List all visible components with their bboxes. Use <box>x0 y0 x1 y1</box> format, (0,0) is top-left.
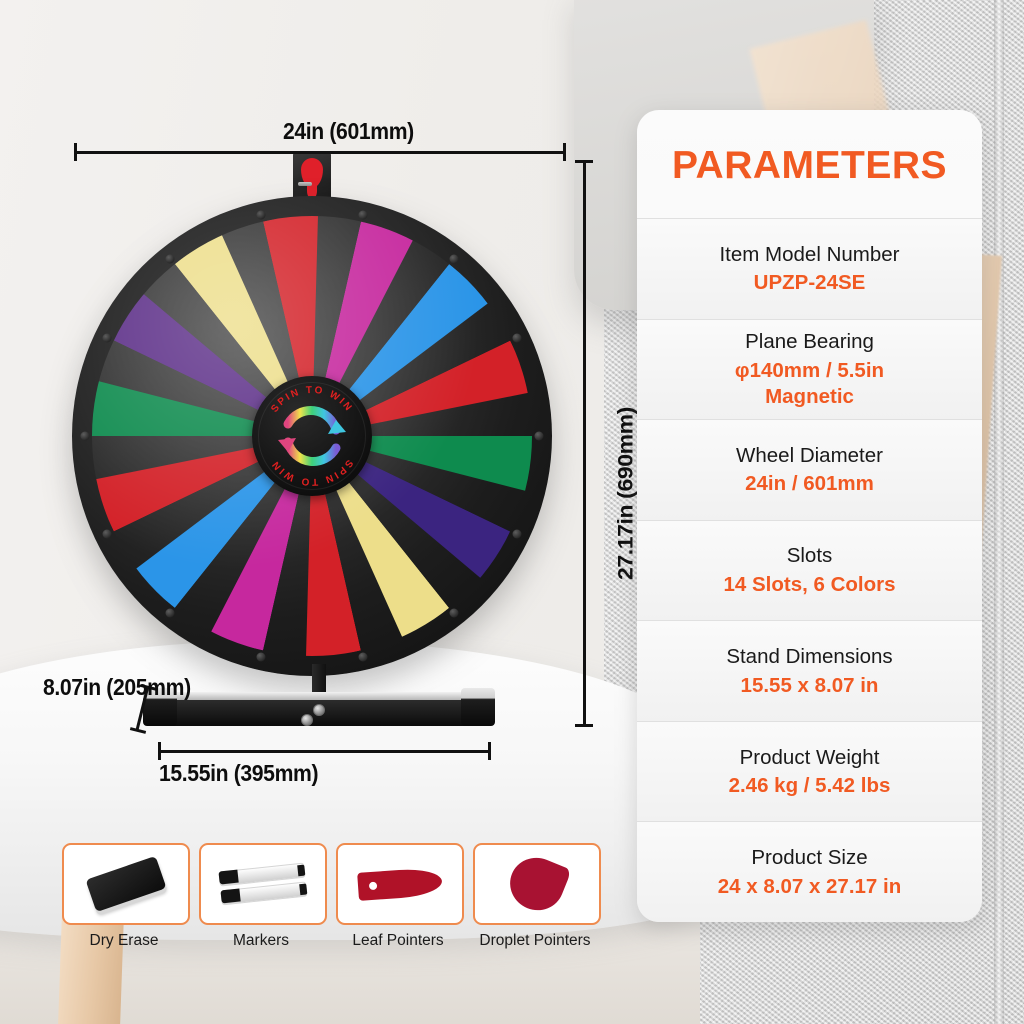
marker-icon <box>218 859 308 910</box>
accessory-card <box>473 843 601 925</box>
accessory-card <box>199 843 327 925</box>
stand-post <box>312 664 326 694</box>
parameter-row: Item Model NumberUPZP-24SE <box>637 218 982 319</box>
parameter-value: 24 x 8.07 x 27.17 in <box>718 874 902 900</box>
parameter-key: Item Model Number <box>719 242 899 268</box>
parameter-value: φ140mm / 5.5in Magnetic <box>735 358 884 409</box>
parameters-panel: PARAMETERS Item Model NumberUPZP-24SEPla… <box>637 110 982 922</box>
accessory-leaf-pointers[interactable]: Leaf Pointers <box>336 843 460 950</box>
recycle-arrows-icon <box>278 410 346 461</box>
stand-cap-right <box>461 688 495 726</box>
sofa-seam <box>994 0 1004 1024</box>
wheel-bolt <box>512 530 521 539</box>
parameter-value: 24in / 601mm <box>745 471 874 497</box>
wheel-bolt <box>257 653 266 662</box>
wheel-hub: SPIN TO WIN SPIN TO WIN <box>252 376 372 496</box>
wheel-bolt <box>358 210 367 219</box>
droplet-pointer-icon <box>502 850 572 918</box>
accessory-label: Leaf Pointers <box>336 932 460 950</box>
accessory-card <box>336 843 464 925</box>
parameter-row: Product Size24 x 8.07 x 27.17 in <box>637 821 982 922</box>
wheel-bolt <box>103 530 112 539</box>
hub-logo: SPIN TO WIN SPIN TO WIN <box>252 376 372 496</box>
wheel-bolt <box>535 432 544 441</box>
dimension-height-right-label: 27.17in (690mm) <box>613 407 638 580</box>
wheel-bolt <box>512 333 521 342</box>
wheel-bolt <box>81 432 90 441</box>
leaf-pointer-icon <box>357 867 443 901</box>
accessory-label: Droplet Pointers <box>473 932 597 950</box>
parameter-value: UPZP-24SE <box>754 270 866 296</box>
wheel-stand <box>143 686 495 732</box>
wheel-bolt <box>166 254 175 263</box>
dimension-stand-width-bottom-label: 15.55in (395mm) <box>159 760 318 787</box>
hub-shaft <box>298 182 312 186</box>
parameter-row: Stand Dimensions15.55 x 8.07 in <box>637 620 982 721</box>
parameter-row: Plane Bearingφ140mm / 5.5in Magnetic <box>637 319 982 420</box>
eraser-icon <box>85 856 166 912</box>
stand-screw-lower <box>301 714 313 726</box>
accessory-card <box>62 843 190 925</box>
parameter-key: Slots <box>787 543 833 569</box>
wheel-bolt <box>103 333 112 342</box>
wheel-bolt <box>257 210 266 219</box>
parameter-row: Product Weight2.46 kg / 5.42 lbs <box>637 721 982 822</box>
accessory-label: Markers <box>199 932 323 950</box>
accessory-droplet-pointers[interactable]: Droplet Pointers <box>473 843 597 950</box>
parameter-key: Stand Dimensions <box>726 644 892 670</box>
parameter-key: Plane Bearing <box>745 329 874 355</box>
accessory-dry-erase[interactable]: Dry Erase <box>62 843 186 950</box>
parameter-key: Wheel Diameter <box>736 443 883 469</box>
dimension-depth-left-label: 8.07in (205mm) <box>43 674 191 701</box>
panel-title: PARAMETERS <box>637 110 982 218</box>
parameter-row: Wheel Diameter24in / 601mm <box>637 419 982 520</box>
parameter-value: 2.46 kg / 5.42 lbs <box>729 773 891 799</box>
wheel-bolt <box>449 254 458 263</box>
parameter-row: Slots14 Slots, 6 Colors <box>637 520 982 621</box>
wheel-bolt <box>449 609 458 618</box>
wheel-bolt <box>358 653 367 662</box>
parameter-value: 14 Slots, 6 Colors <box>723 572 895 598</box>
accessory-list: Dry Erase Markers Leaf Pointers Droplet … <box>62 843 597 950</box>
parameters-rows: Item Model NumberUPZP-24SEPlane Bearingφ… <box>637 218 982 922</box>
stand-screw-upper <box>313 704 325 716</box>
wheel-bolt <box>166 609 175 618</box>
accessory-markers[interactable]: Markers <box>199 843 323 950</box>
dimension-width-top-label: 24in (601mm) <box>283 118 414 145</box>
parameter-key: Product Weight <box>740 745 880 771</box>
parameter-key: Product Size <box>751 845 867 871</box>
parameter-value: 15.55 x 8.07 in <box>741 673 879 699</box>
prize-wheel: SPIN TO WIN SPIN TO WIN <box>72 196 552 676</box>
accessory-label: Dry Erase <box>62 932 186 950</box>
